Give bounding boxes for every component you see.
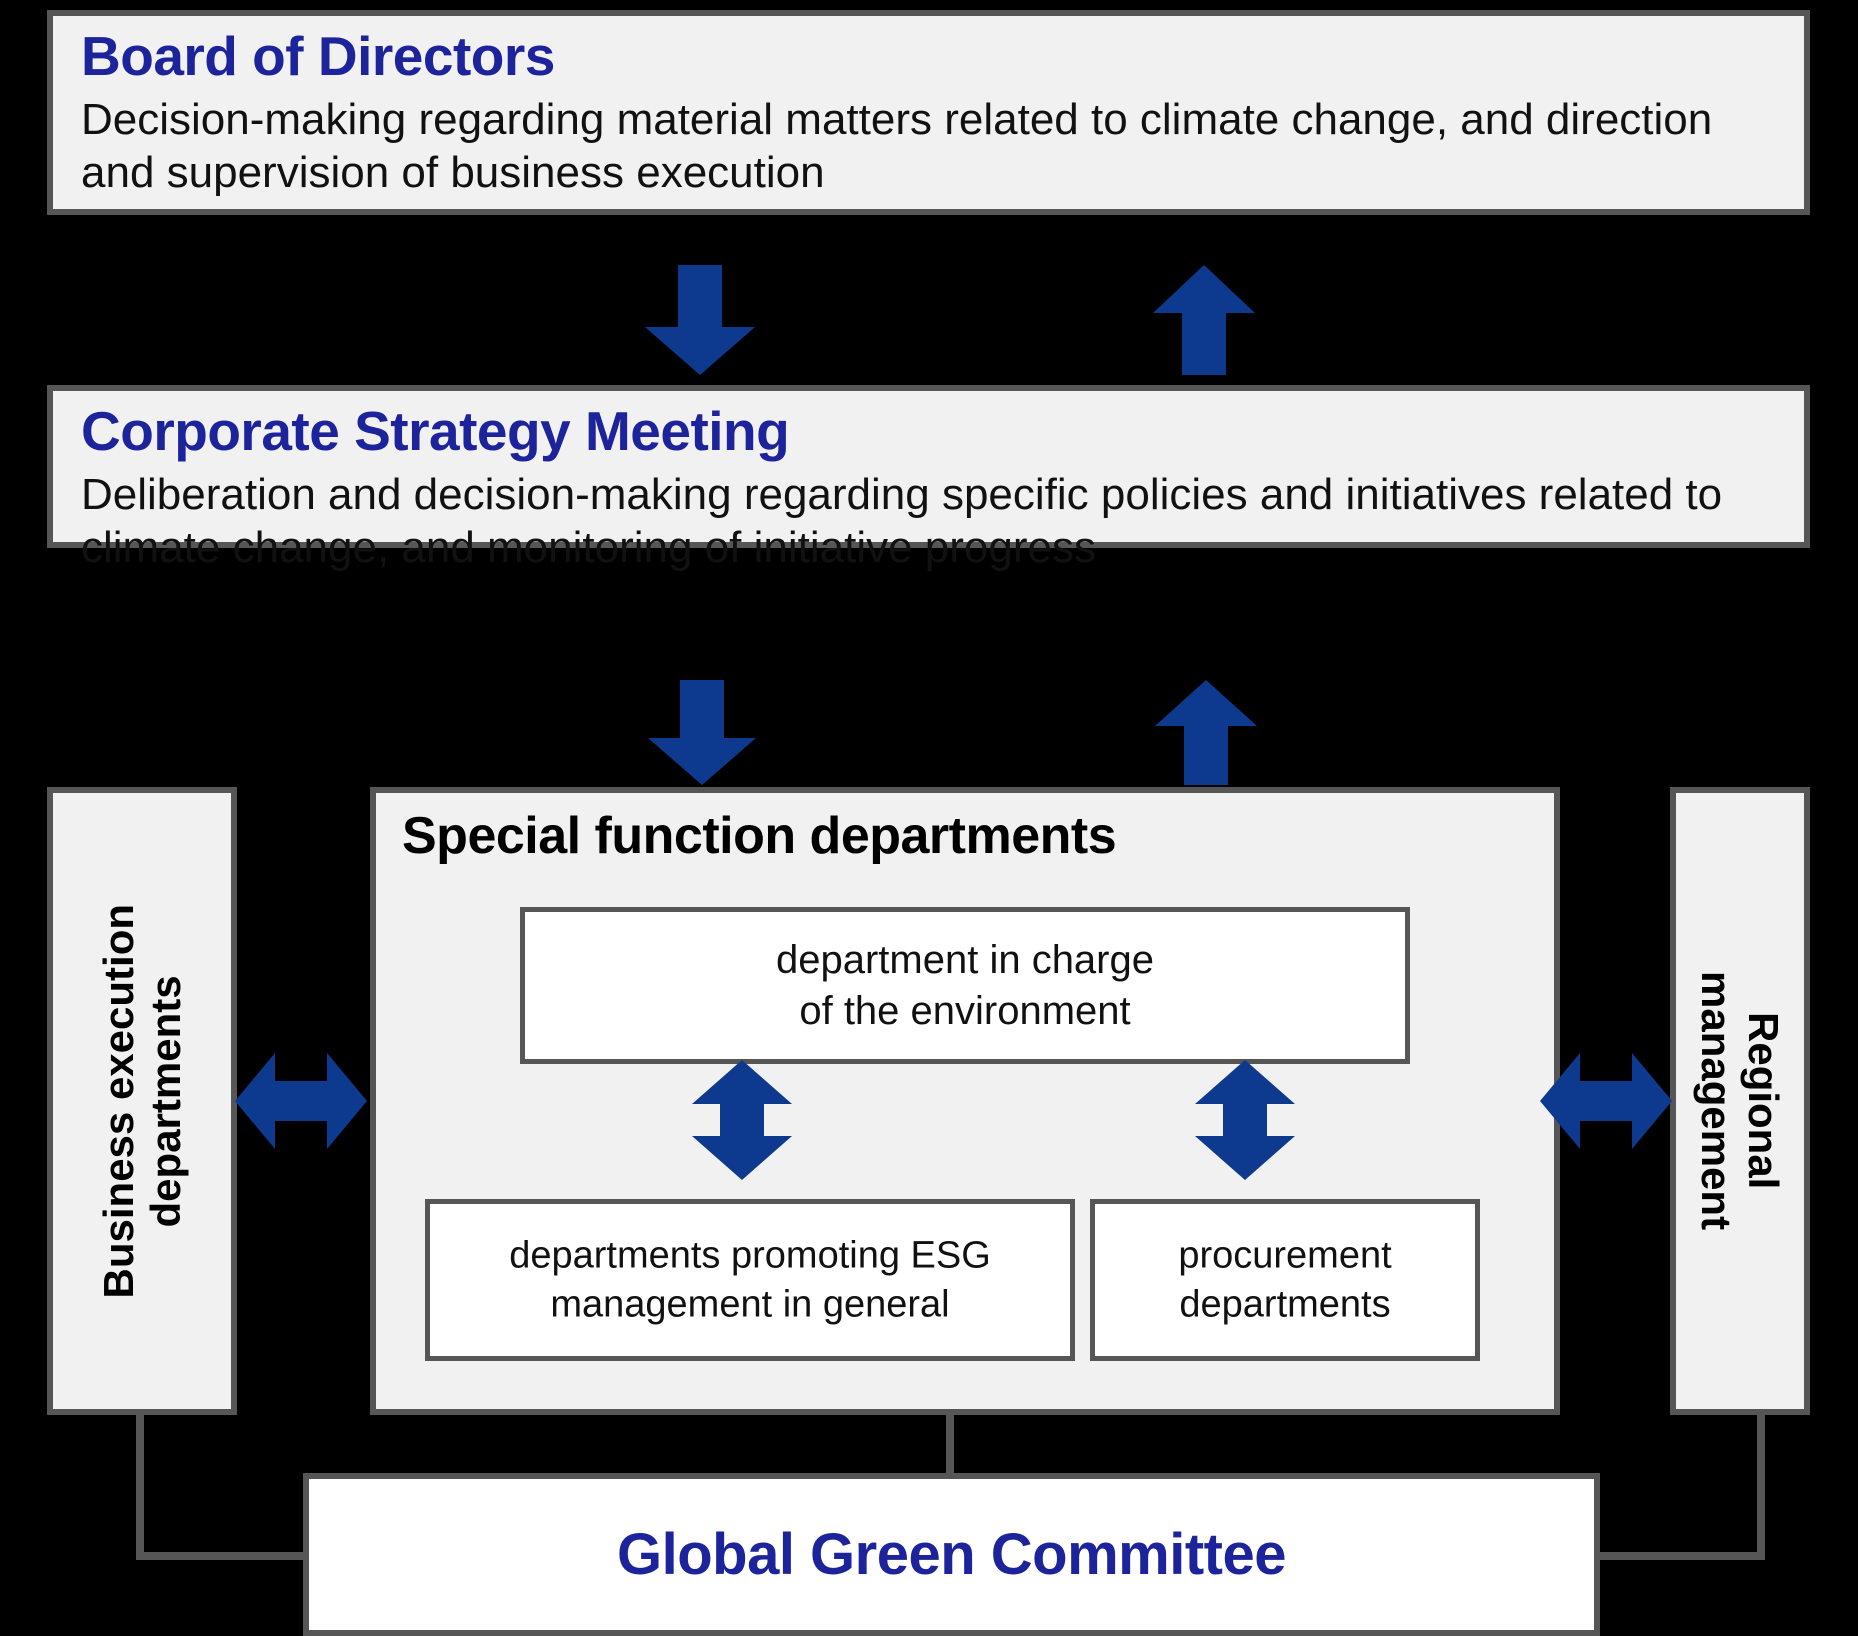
regional-management-label-wrap: Regional management [1676,793,1804,1409]
special-to-strategy-up-arrow [1155,680,1257,785]
business-execution-link-arrow [235,1053,367,1149]
department-in-charge-of-environment-box: department in charge of the environment [520,907,1410,1064]
strategy-to-board-up-arrow [1153,265,1255,375]
board-of-directors-title: Board of Directors [81,28,555,85]
environment-to-esg-arrow [692,1060,792,1180]
corporate-strategy-meeting-box: Corporate Strategy Meeting Deliberation … [47,385,1810,548]
board-to-strategy-down-arrow [645,265,755,375]
business-execution-departments-box: Business execution departments [47,787,237,1415]
connector-right-vertical [1757,1415,1765,1560]
global-green-committee-box: Global Green Committee [303,1473,1600,1636]
regional-management-box: Regional management [1670,787,1810,1415]
strategy-to-special-down-arrow [648,680,756,785]
connector-center-vertical [946,1415,954,1477]
corporate-strategy-meeting-title: Corporate Strategy Meeting [81,403,789,460]
procurement-departments-label: procurement departments [1095,1231,1475,1328]
board-of-directors-description: Decision-making regarding material matte… [81,94,1771,200]
environment-to-procurement-arrow [1195,1060,1295,1180]
board-of-directors-box: Board of Directors Decision-making regar… [47,10,1810,215]
esg-management-departments-label: departments promoting ESG management in … [430,1231,1070,1328]
regional-management-label: Regional management [1693,971,1787,1230]
special-function-departments-title: Special function departments [402,809,1116,863]
esg-management-departments-box: departments promoting ESG management in … [425,1199,1075,1361]
connector-left-horizontal [136,1552,311,1560]
global-green-committee-title: Global Green Committee [309,1524,1594,1584]
connector-right-horizontal [1590,1552,1765,1560]
department-in-charge-of-environment-label: department in charge of the environment [525,934,1405,1036]
business-execution-departments-label-wrap: Business execution departments [53,793,231,1409]
regional-management-link-arrow [1540,1053,1672,1149]
org-structure-diagram: Board of Directors Decision-making regar… [0,0,1858,1636]
procurement-departments-box: procurement departments [1090,1199,1480,1361]
corporate-strategy-meeting-description: Deliberation and decision-making regardi… [81,469,1801,575]
business-execution-departments-label: Business execution departments [95,904,189,1298]
connector-left-vertical [136,1415,144,1560]
